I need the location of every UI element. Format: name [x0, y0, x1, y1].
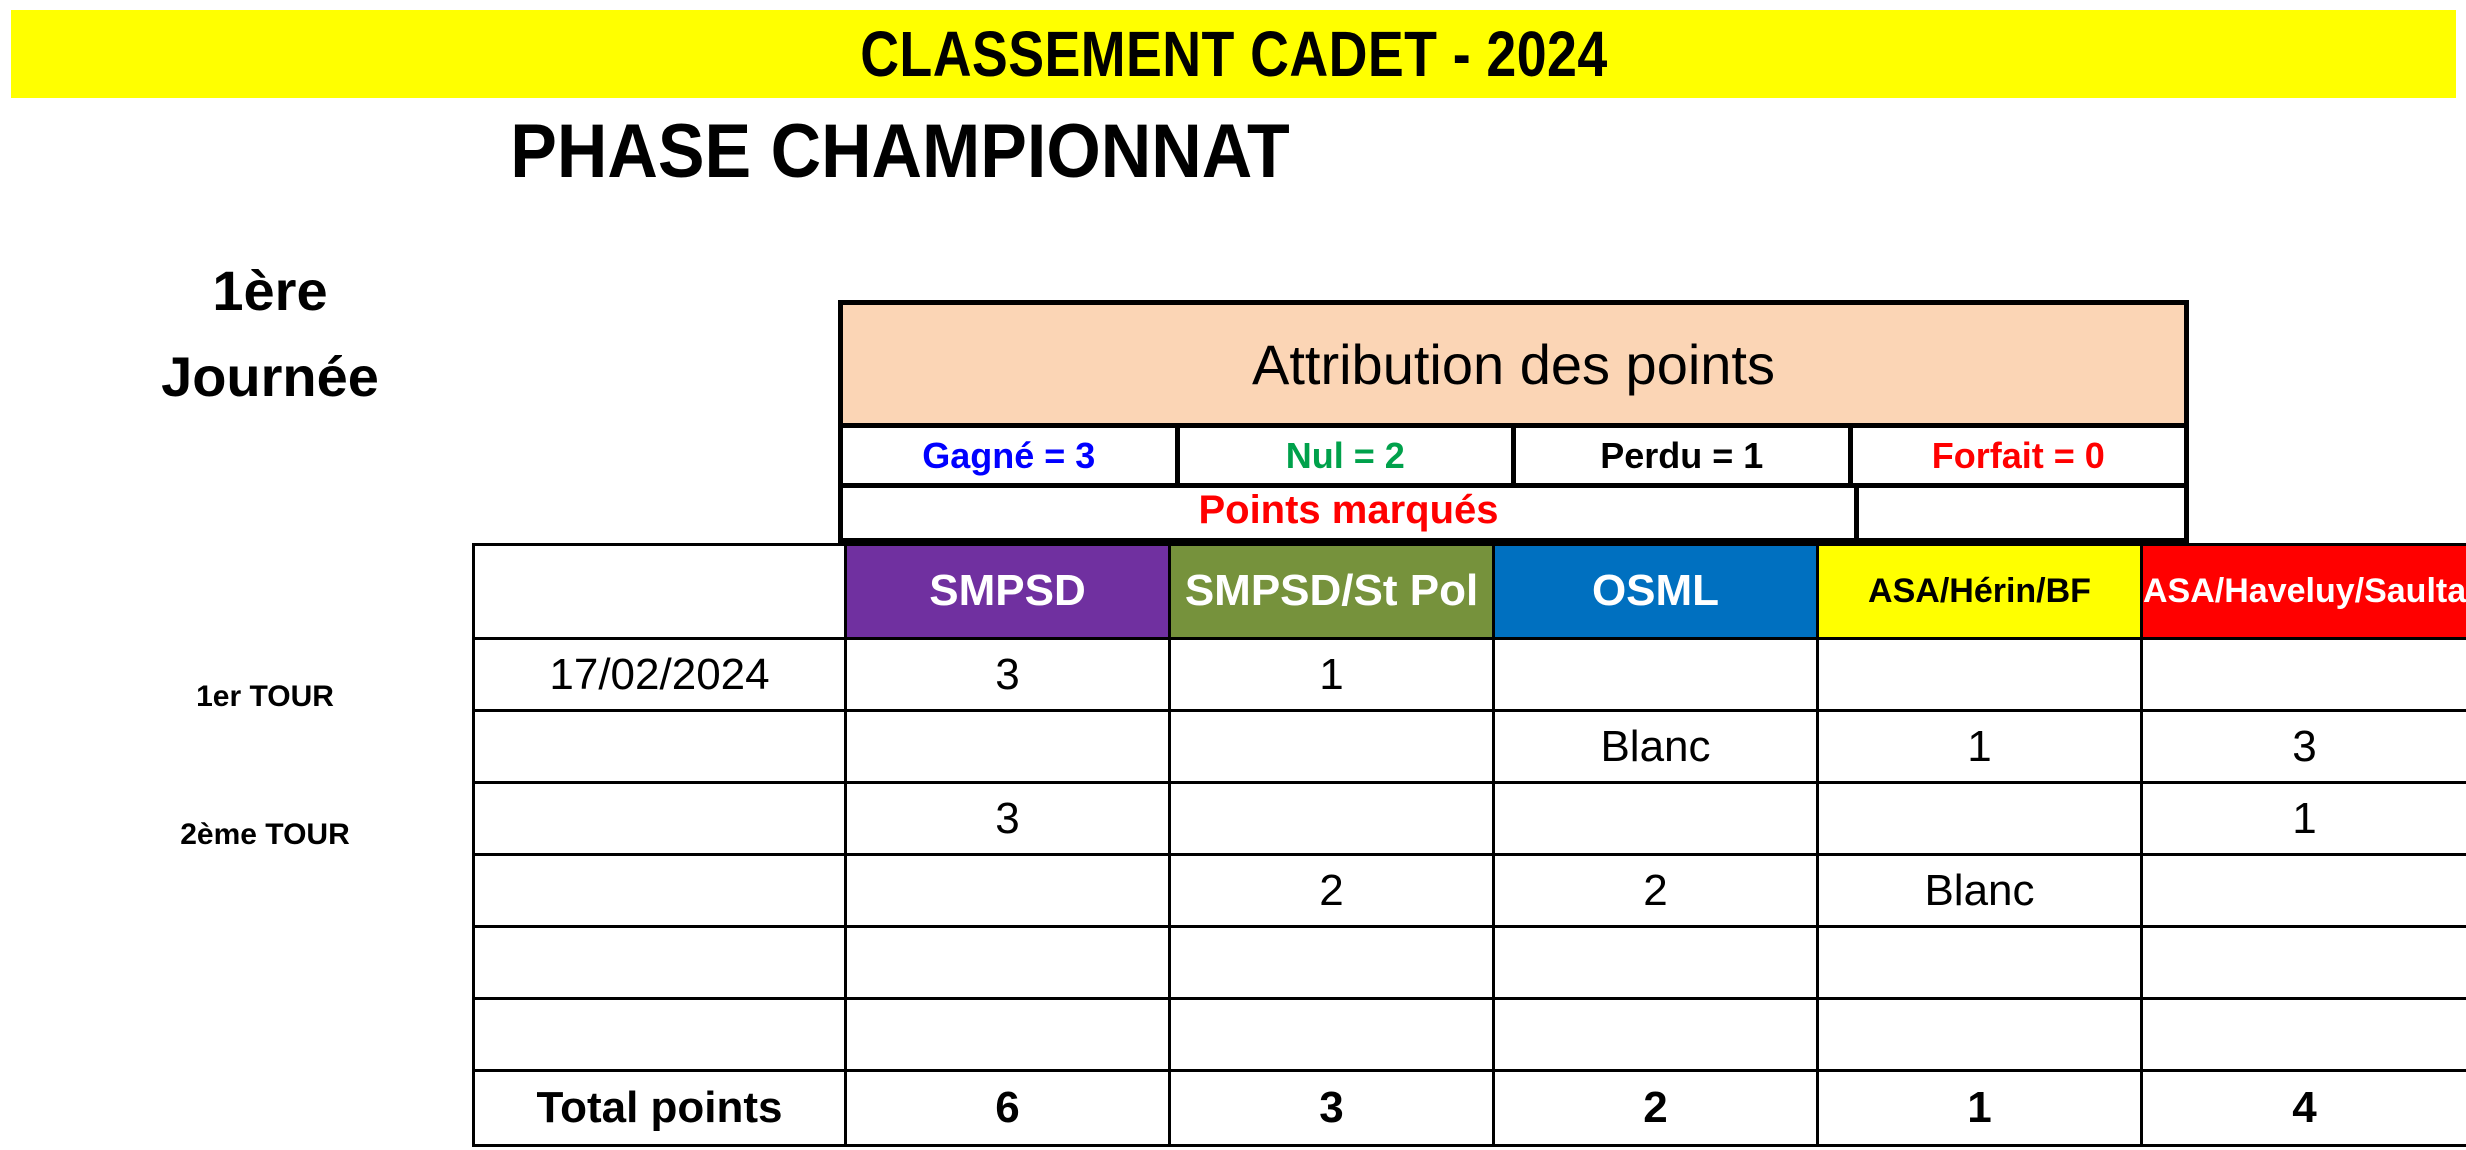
cell-2-2: [1494, 783, 1818, 855]
cell-2-0: 3: [846, 783, 1170, 855]
attribution-item-perdu: Perdu = 1: [1516, 428, 1853, 483]
cell-0-3: [1818, 639, 2142, 711]
journee-label: 1ère Journée: [60, 248, 480, 420]
attribution-item-nul: Nul = 2: [1180, 428, 1517, 483]
attribution-title: Attribution des points: [843, 305, 2184, 428]
cell-4-4: [2142, 927, 2466, 999]
team-header-asa-herin-bf: ASA/Hérin/BF: [1818, 545, 2142, 639]
row-label-4: [474, 927, 846, 999]
team-header-asa-haveluy-saultain: ASA/Haveluy/Saultain: [2142, 545, 2466, 639]
cell-2-1: [1170, 783, 1494, 855]
cell-2-3: [1818, 783, 2142, 855]
table-row: [474, 927, 2466, 999]
total-asa-herin-bf: 1: [1818, 1071, 2142, 1146]
total-smpsd-st-pol: 3: [1170, 1071, 1494, 1146]
tour-label-2: 2ème TOUR: [55, 818, 475, 852]
page-title: CLASSEMENT CADET - 2024: [860, 17, 1607, 91]
journee-line-1: 1ère: [60, 248, 480, 334]
table-row: 2 2 Blanc: [474, 855, 2466, 927]
total-smpsd: 6: [846, 1071, 1170, 1146]
table-corner-cell: [474, 545, 846, 639]
cell-3-0: [846, 855, 1170, 927]
table-row: 3 1: [474, 783, 2466, 855]
page-subtitle: PHASE CHAMPIONNAT: [72, 108, 1728, 195]
total-osml: 2: [1494, 1071, 1818, 1146]
points-marques-empty: [1859, 483, 2184, 538]
cell-0-0: 3: [846, 639, 1170, 711]
journee-line-2: Journée: [60, 334, 480, 420]
cell-4-2: [1494, 927, 1818, 999]
row-label-3: [474, 855, 846, 927]
row-label-1: [474, 711, 846, 783]
table-header-row: SMPSD SMPSD/St Pol OSML ASA/Hérin/BF ASA…: [474, 545, 2466, 639]
attribution-values-row: Gagné = 3 Nul = 2 Perdu = 1 Forfait = 0: [843, 428, 2184, 483]
cell-3-4: [2142, 855, 2466, 927]
cell-5-1: [1170, 999, 1494, 1071]
cell-4-1: [1170, 927, 1494, 999]
cell-1-0: [846, 711, 1170, 783]
cell-3-1: 2: [1170, 855, 1494, 927]
cell-3-3: Blanc: [1818, 855, 2142, 927]
total-points-label: Total points: [474, 1071, 846, 1146]
cell-2-4: 1: [2142, 783, 2466, 855]
cell-1-3: 1: [1818, 711, 2142, 783]
row-label-0: 17/02/2024: [474, 639, 846, 711]
team-header-smpsd: SMPSD: [846, 545, 1170, 639]
tour-label-1: 1er TOUR: [55, 680, 475, 714]
cell-4-3: [1818, 927, 2142, 999]
attribution-item-gagne: Gagné = 3: [843, 428, 1180, 483]
cell-5-3: [1818, 999, 2142, 1071]
table-total-row: Total points 6 3 2 1 4: [474, 1071, 2466, 1146]
table-row: Blanc 1 3: [474, 711, 2466, 783]
title-banner: CLASSEMENT CADET - 2024: [11, 10, 2456, 98]
cell-5-4: [2142, 999, 2466, 1071]
standings-table: SMPSD SMPSD/St Pol OSML ASA/Hérin/BF ASA…: [472, 543, 2466, 1147]
attribution-item-forfait: Forfait = 0: [1853, 428, 2185, 483]
cell-0-2: [1494, 639, 1818, 711]
cell-5-0: [846, 999, 1170, 1071]
cell-4-0: [846, 927, 1170, 999]
team-header-osml: OSML: [1494, 545, 1818, 639]
row-label-5: [474, 999, 846, 1071]
team-header-smpsd-st-pol: SMPSD/St Pol: [1170, 545, 1494, 639]
attribution-block: Attribution des points Gagné = 3 Nul = 2…: [838, 300, 2189, 488]
points-marques-row: Points marqués: [838, 483, 2189, 543]
cell-0-1: 1: [1170, 639, 1494, 711]
cell-1-4: 3: [2142, 711, 2466, 783]
cell-0-4: [2142, 639, 2466, 711]
cell-3-2: 2: [1494, 855, 1818, 927]
table-row: [474, 999, 2466, 1071]
cell-1-1: [1170, 711, 1494, 783]
total-asa-haveluy-saultain: 4: [2142, 1071, 2466, 1146]
cell-5-2: [1494, 999, 1818, 1071]
row-label-2: [474, 783, 846, 855]
cell-1-2: Blanc: [1494, 711, 1818, 783]
table-row: 17/02/2024 3 1: [474, 639, 2466, 711]
points-marques-label: Points marqués: [843, 483, 1859, 538]
